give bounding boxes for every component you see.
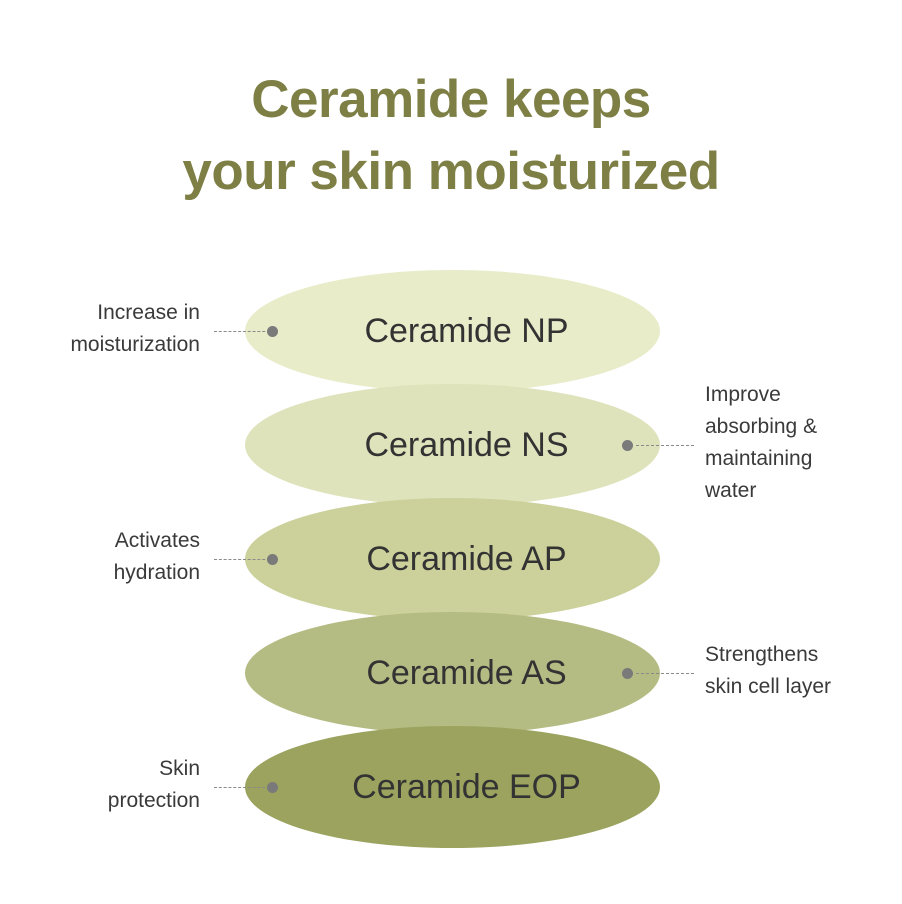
- callout-line: absorbing &: [705, 415, 817, 438]
- ceramide-infographic: Ceramide keeps your skin moisturized Cer…: [0, 0, 902, 904]
- callout-line: moisturization: [70, 333, 200, 356]
- layer-ceramide-ap[interactable]: Ceramide AP: [245, 498, 660, 620]
- leader-line-ceramide-as: [636, 673, 694, 674]
- leader-line-ceramide-eop: [214, 787, 270, 788]
- callout-text-ceramide-ap: Activates hydration: [114, 525, 200, 589]
- node-dot-ceramide-np: [267, 326, 278, 337]
- layer-ceramide-as[interactable]: Ceramide AS: [245, 612, 660, 734]
- layer-label-ceramide-as: Ceramide AS: [366, 656, 566, 690]
- callout-line: protection: [108, 789, 200, 812]
- callout-line: hydration: [114, 561, 200, 584]
- layer-ceramide-eop[interactable]: Ceramide EOP: [245, 726, 660, 848]
- layer-ceramide-ns[interactable]: Ceramide NS: [245, 384, 660, 506]
- node-dot-ceramide-as: [622, 668, 633, 679]
- layer-label-ceramide-ap: Ceramide AP: [366, 542, 566, 576]
- leader-line-ceramide-np: [214, 331, 270, 332]
- callout-line: Improve: [705, 383, 781, 406]
- callout-line: maintaining: [705, 447, 812, 470]
- callout-line: water: [705, 479, 756, 502]
- callout-text-ceramide-as: Strengthens skin cell layer: [705, 639, 831, 703]
- callout-line: Strengthens: [705, 643, 818, 666]
- callout-line: skin cell layer: [705, 675, 831, 698]
- callout-text-ceramide-eop: Skin protection: [108, 753, 200, 817]
- layer-label-ceramide-np: Ceramide NP: [364, 314, 568, 348]
- node-dot-ceramide-ns: [622, 440, 633, 451]
- callout-line: Activates: [115, 529, 200, 552]
- leader-line-ceramide-ns: [636, 445, 694, 446]
- callout-line: Skin: [159, 757, 200, 780]
- callout-text-ceramide-ns: Improve absorbing & maintaining water: [705, 379, 817, 507]
- layer-ceramide-np[interactable]: Ceramide NP: [245, 270, 660, 392]
- callout-text-ceramide-np: Increase in moisturization: [70, 297, 200, 361]
- node-dot-ceramide-ap: [267, 554, 278, 565]
- layer-label-ceramide-ns: Ceramide NS: [364, 428, 568, 462]
- callout-line: Increase in: [97, 301, 200, 324]
- layer-label-ceramide-eop: Ceramide EOP: [352, 770, 581, 804]
- node-dot-ceramide-eop: [267, 782, 278, 793]
- leader-line-ceramide-ap: [214, 559, 270, 560]
